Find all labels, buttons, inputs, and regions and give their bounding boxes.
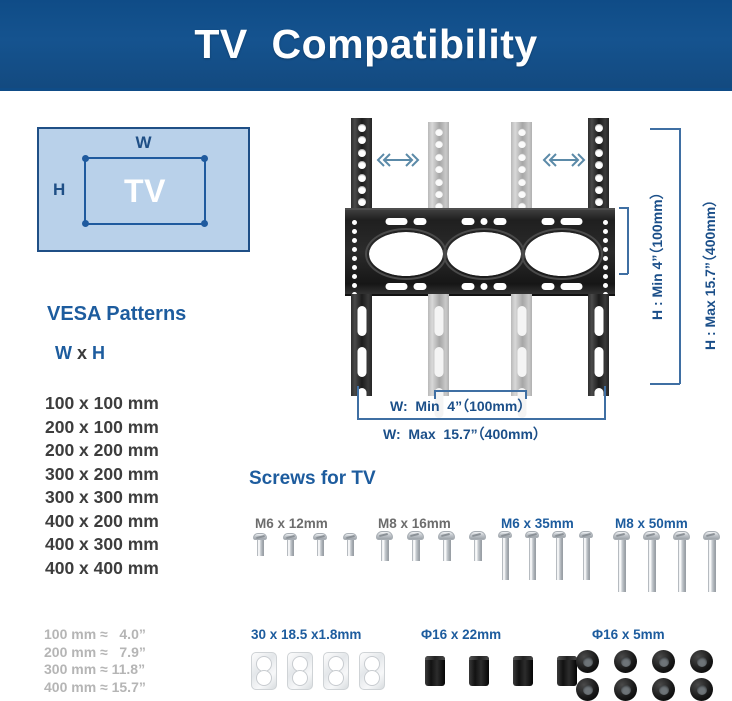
plate-cutout-left xyxy=(367,216,445,292)
spacer-16x22 xyxy=(513,656,533,686)
w-max-tick-right xyxy=(604,386,606,419)
screw-m8x16 xyxy=(407,531,424,561)
washer-16x5 xyxy=(652,650,675,673)
h-max-label: H : Max 15.7”（400mm） xyxy=(700,193,720,350)
hardware-group-m8x16 xyxy=(376,531,486,561)
w-min-dim-line xyxy=(434,390,526,392)
vesa-column-x: x xyxy=(77,343,87,363)
screw-m6x35 xyxy=(498,531,512,580)
washer-16x5 xyxy=(690,650,713,673)
hardware-label-plate-washer: 30 x 18.5 x1.8mm xyxy=(251,627,361,642)
washer-16x5 xyxy=(576,678,599,701)
h-min-dim-line xyxy=(627,207,629,274)
header-divider xyxy=(0,88,732,91)
h-max-dim-line xyxy=(679,128,681,384)
wall-mount-bracket-diagram xyxy=(345,118,615,396)
hardware-group-spacers xyxy=(425,656,577,686)
page-title: TV Compatibility xyxy=(194,21,537,68)
plate-washer xyxy=(251,652,277,690)
plate-oval-cutout xyxy=(447,232,521,276)
width-adjust-arrow-left-icon xyxy=(375,152,421,168)
washer-16x5 xyxy=(652,678,675,701)
screws-section-title: Screws for TV xyxy=(249,468,376,490)
vesa-column-w: W xyxy=(55,343,72,363)
hardware-group-m8x50 xyxy=(613,531,720,592)
plate-slot-row xyxy=(542,283,583,290)
hardware-label-m8x50: M8 x 50mm xyxy=(615,516,688,531)
h-min-tick-bottom xyxy=(619,273,628,275)
bracket-wall-plate xyxy=(345,208,615,296)
spacer-16x22 xyxy=(425,656,445,686)
washer-16x5 xyxy=(614,650,637,673)
tv-diagram: W H TV xyxy=(37,127,250,252)
screw-m8x16 xyxy=(469,531,486,561)
screw-m6x12 xyxy=(253,533,267,556)
tv-height-label: H xyxy=(53,180,65,200)
bracket-lower-rail-inner-right xyxy=(511,294,532,396)
screw-m8x50 xyxy=(703,531,720,592)
plate-cutout-center xyxy=(445,216,523,292)
screw-m6x12 xyxy=(313,533,327,556)
vesa-column-header: W x H xyxy=(55,343,105,364)
bracket-rail-inner-left xyxy=(428,122,449,214)
hardware-group-m6x35 xyxy=(498,531,593,580)
conversion-row: 100 mm ≈ 4.0” xyxy=(44,626,146,644)
plate-slot-row xyxy=(386,218,427,225)
bracket-lower-rail-outer-right xyxy=(588,294,609,396)
w-max-label: W: Max 15.7”（400mm） xyxy=(383,424,547,444)
plate-slot-row xyxy=(462,218,507,225)
screw-m6x35 xyxy=(579,531,593,580)
hardware-label-m8x16: M8 x 16mm xyxy=(378,516,451,531)
h-max-tick-top xyxy=(650,128,680,130)
rail-hole-column xyxy=(595,124,603,219)
washer-16x5 xyxy=(614,678,637,701)
conversion-row: 200 mm ≈ 7.9” xyxy=(44,644,146,662)
plate-cutout-right xyxy=(523,216,601,292)
conversion-row: 400 mm ≈ 15.7” xyxy=(44,679,146,697)
plate-washer xyxy=(287,652,313,690)
hardware-group-plate-washers xyxy=(251,652,385,690)
plate-washer xyxy=(323,652,349,690)
screw-m6x12 xyxy=(343,533,357,556)
w-max-tick-left xyxy=(357,386,359,419)
washer-16x5 xyxy=(576,650,599,673)
vesa-point-top-left-icon xyxy=(82,155,89,162)
hardware-label-washer: Φ16 x 5mm xyxy=(592,627,665,642)
tv-width-label: W xyxy=(39,133,248,153)
spacer-16x22 xyxy=(557,656,577,686)
spacer-16x22 xyxy=(469,656,489,686)
rail-slot-column xyxy=(594,306,603,418)
conversion-row: 300 mm ≈ 11.8” xyxy=(44,661,146,679)
hardware-label-m6x12: M6 x 12mm xyxy=(255,516,328,531)
vesa-point-bottom-right-icon xyxy=(201,220,208,227)
w-min-label: W: Min 4”（100mm） xyxy=(390,396,531,416)
hardware-label-spacer: Φ16 x 22mm xyxy=(421,627,501,642)
screw-m8x16 xyxy=(438,531,455,561)
h-min-tick-top xyxy=(619,207,628,209)
bracket-lower-rail-inner-left xyxy=(428,294,449,396)
screw-m8x50 xyxy=(643,531,660,592)
plate-oval-cutout xyxy=(525,232,599,276)
screw-m8x16 xyxy=(376,531,393,561)
screw-m8x50 xyxy=(613,531,630,592)
washer-16x5 xyxy=(690,678,713,701)
plate-washer xyxy=(359,652,385,690)
hardware-group-washers-row2 xyxy=(576,678,713,701)
vesa-point-bottom-left-icon xyxy=(82,220,89,227)
vesa-pattern-list: 100 x 100 mm 200 x 100 mm 200 x 200 mm 3… xyxy=(45,392,159,580)
vesa-point-top-right-icon xyxy=(201,155,208,162)
tv-screen-outline: TV xyxy=(84,157,206,225)
vesa-section-title: VESA Patterns xyxy=(47,303,186,326)
bracket-rail-outer-left xyxy=(351,118,372,214)
page-header: TV Compatibility xyxy=(0,0,732,88)
w-max-dim-line xyxy=(357,418,606,420)
screw-m6x12 xyxy=(283,533,297,556)
rail-hole-column xyxy=(358,124,366,219)
h-max-tick-bottom xyxy=(650,383,680,385)
plate-slot-row xyxy=(386,283,427,290)
plate-slot-row xyxy=(542,218,583,225)
tv-screen-label: TV xyxy=(86,159,204,223)
bracket-rail-outer-right xyxy=(588,118,609,214)
width-adjust-arrow-right-icon xyxy=(541,152,587,168)
hardware-group-washers-row1 xyxy=(576,650,713,673)
screw-m6x35 xyxy=(552,531,566,580)
vesa-column-h: H xyxy=(92,343,105,363)
bracket-rail-inner-right xyxy=(511,122,532,214)
hardware-label-m6x35: M6 x 35mm xyxy=(501,516,574,531)
screw-m8x50 xyxy=(673,531,690,592)
plate-oval-cutout xyxy=(369,232,443,276)
h-min-label: H : Min 4”（100mm） xyxy=(647,185,667,320)
unit-conversion-table: 100 mm ≈ 4.0” 200 mm ≈ 7.9” 300 mm ≈ 11.… xyxy=(44,626,146,696)
hardware-group-m6x12 xyxy=(253,533,357,556)
bracket-lower-rail-outer-left xyxy=(351,294,372,396)
screw-m6x35 xyxy=(525,531,539,580)
plate-slot-row xyxy=(462,283,507,290)
